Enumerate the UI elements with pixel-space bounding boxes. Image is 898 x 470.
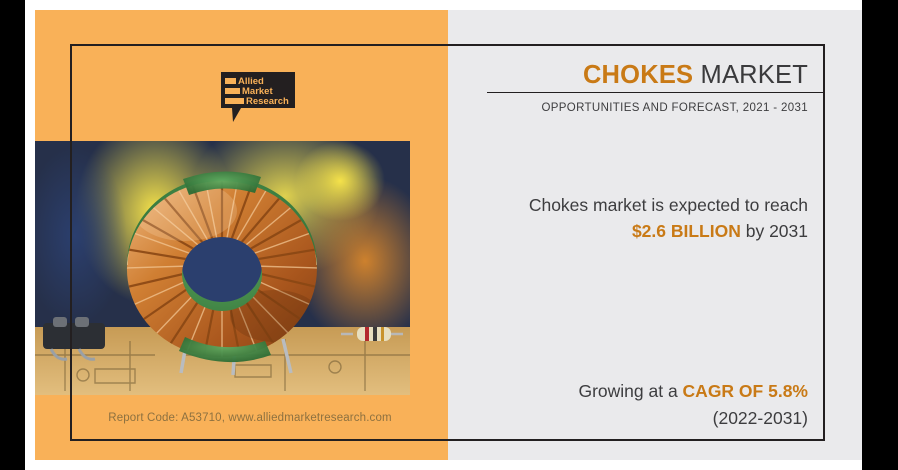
logo-text-line3: Research: [246, 96, 289, 107]
market-value-statement: Chokes market is expected to reach $2.6 …: [529, 192, 808, 244]
cagr-period: (2022-2031): [578, 405, 808, 432]
page-title-accent: CHOKES: [583, 61, 693, 89]
infographic-canvas: Allied Market Research: [0, 0, 898, 470]
page-title: CHOKES MARKET: [583, 60, 808, 90]
allied-market-research-logo: Allied Market Research: [219, 70, 297, 126]
title-divider: [487, 92, 825, 93]
logo-speech-bubble-icon: Allied Market Research: [219, 70, 297, 126]
report-code-caption: Report Code: A53710, www.alliedmarketres…: [70, 412, 430, 424]
photo-illustration: [35, 141, 410, 395]
cagr-value: CAGR OF 5.8%: [683, 381, 808, 401]
cagr-prefix: Growing at a: [578, 381, 682, 401]
market-value-line2: $2.6 BILLION by 2031: [529, 218, 808, 244]
market-value-line1: Chokes market is expected to reach: [529, 195, 808, 215]
market-value-amount: $2.6 BILLION: [632, 221, 741, 241]
market-value-year: by 2031: [741, 221, 808, 241]
cagr-statement: Growing at a CAGR OF 5.8% (2022-2031): [578, 378, 808, 432]
toroidal-choke-inductor-photo: [35, 141, 410, 395]
page-title-rest: MARKET: [693, 61, 808, 89]
page-subtitle: OPPORTUNITIES AND FORECAST, 2021 - 2031: [541, 102, 808, 114]
